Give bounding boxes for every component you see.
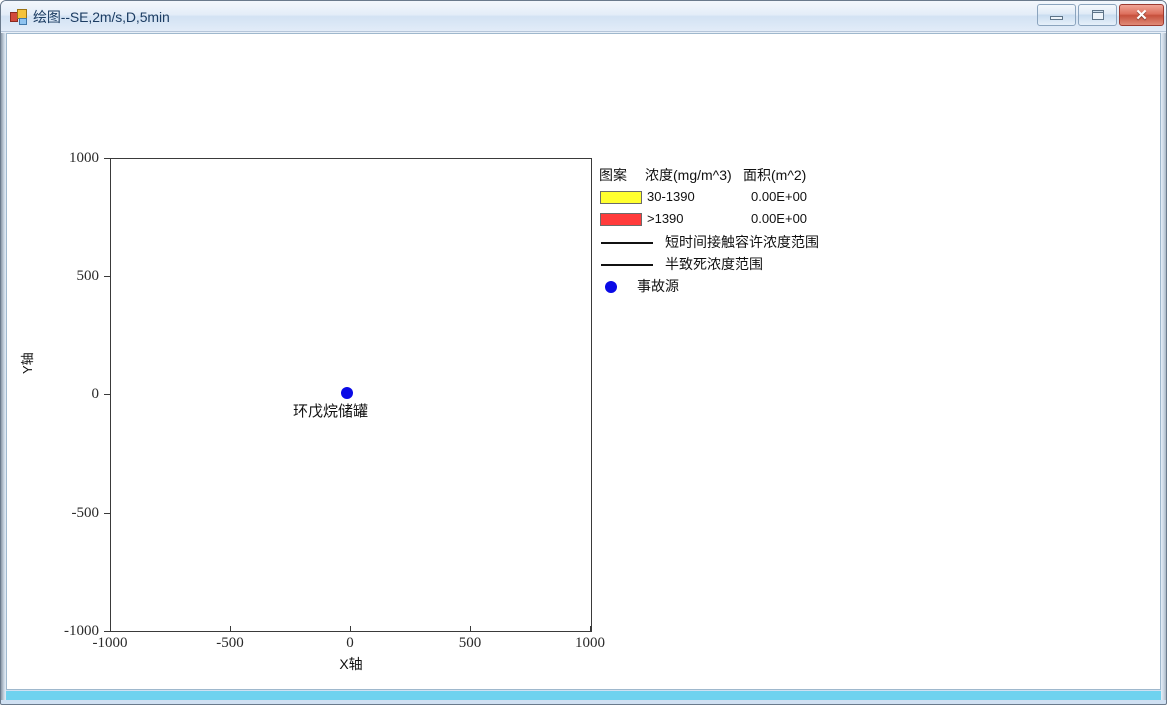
legend-row-red: >1390 0.00E+00 [599,209,849,231]
maximize-icon [1092,10,1104,20]
minimize-button[interactable] [1037,4,1076,26]
legend-header-row: 图案 浓度(mg/m^3) 面积(m^2) [599,165,849,187]
y-tick-0 [104,394,110,395]
legend-swatch-yellow [600,191,642,204]
legend-row-lc50-line: 半致死浓度范围 [599,253,849,275]
y-tick-neg500 [104,513,110,514]
window-controls: ✕ [1037,4,1164,26]
legend-concentration-red: >1390 [647,211,684,226]
legend-label-source: 事故源 [637,276,679,296]
x-tick-label-0: 0 [305,635,395,652]
legend-area-yellow: 0.00E+00 [751,189,807,204]
y-tick-label-0: 0 [29,386,99,403]
x-tick-neg500 [230,626,231,632]
x-tick-label-1000: 1000 [545,635,635,652]
y-tick-label-1000: 1000 [29,150,99,167]
x-tick-label-500: 500 [425,635,515,652]
legend-swatch-red [600,213,642,226]
y-tick-label-500: 500 [29,268,99,285]
legend-line-swatch-lc50 [601,264,653,266]
x-tick-1000 [590,626,591,632]
legend-concentration-yellow: 30-1390 [647,189,695,204]
window-bottom-border [6,691,1161,700]
legend-header-pattern: 图案 [599,165,627,185]
y-tick-label-neg500: -500 [29,505,99,522]
legend-row-yellow: 30-1390 0.00E+00 [599,187,849,209]
windows-form-icon [10,9,27,25]
chart-legend: 图案 浓度(mg/m^3) 面积(m^2) 30-1390 0.00E+00 >… [599,165,849,297]
y-tick-500 [104,276,110,277]
close-button[interactable]: ✕ [1119,4,1164,26]
legend-source-dot-icon [605,281,617,293]
legend-row-stel-line: 短时间接触容许浓度范围 [599,231,849,253]
x-tick-0 [350,626,351,632]
window-right-border [1161,33,1167,700]
minimize-icon [1050,16,1063,20]
application-window: 绘图--SE,2m/s,D,5min ✕ 1000 500 0 -500 [0,0,1167,705]
legend-area-red: 0.00E+00 [751,211,807,226]
legend-row-source: 事故源 [599,275,849,297]
x-tick-neg1000 [110,626,111,632]
accident-source-marker[interactable] [341,387,353,399]
legend-header-area: 面积(m^2) [743,165,806,185]
title-bar[interactable]: 绘图--SE,2m/s,D,5min ✕ [1,1,1167,32]
close-icon: ✕ [1135,8,1148,23]
x-tick-label-neg1000: -1000 [65,635,155,652]
x-tick-500 [470,626,471,632]
chart-canvas: 1000 500 0 -500 -1000 -1000 -500 0 500 1… [6,33,1161,690]
legend-header-concentration: 浓度(mg/m^3) [645,165,732,185]
maximize-button[interactable] [1078,4,1117,26]
y-axis-title: Y轴 [17,352,36,374]
legend-label-stel: 短时间接触容许浓度范围 [665,232,819,252]
window-title: 绘图--SE,2m/s,D,5min [33,7,170,27]
accident-source-label: 环戊烷储罐 [293,400,368,421]
legend-line-swatch-stel [601,242,653,244]
y-tick-1000 [104,158,110,159]
x-axis-title: X轴 [7,654,695,674]
legend-label-lc50: 半致死浓度范围 [665,254,763,274]
x-tick-label-neg500: -500 [185,635,275,652]
